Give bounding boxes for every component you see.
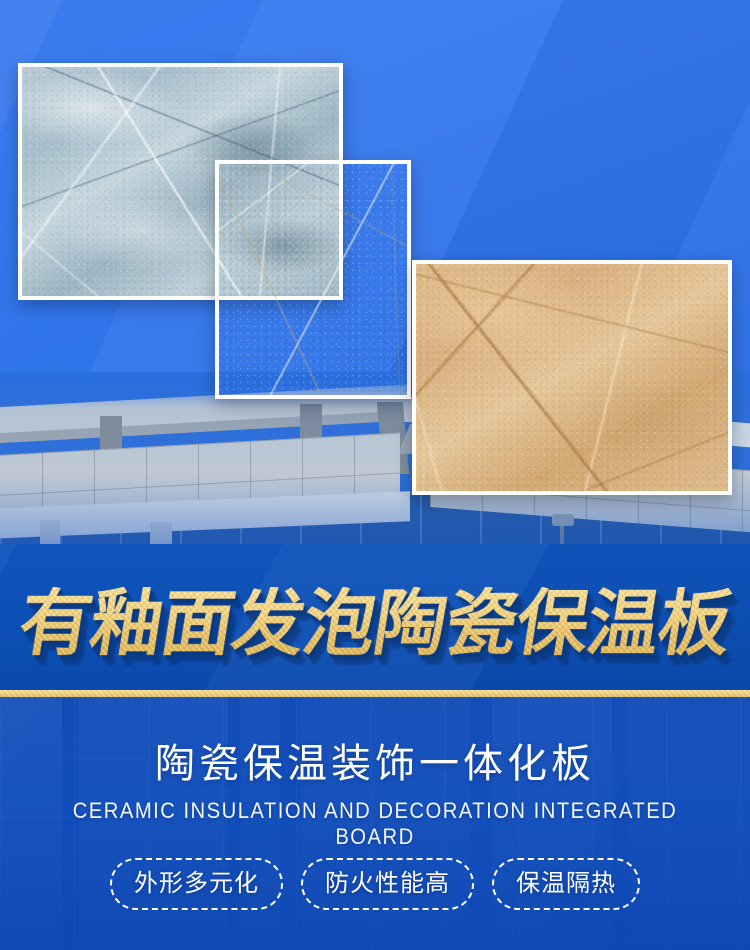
sample-tile-cream-travertine[interactable] — [215, 160, 411, 399]
tile-speckle-cream — [219, 164, 407, 395]
feature-pill-2[interactable]: 防火性能高 — [301, 858, 474, 910]
main-title: 有釉面发泡陶瓷保温板 — [0, 587, 750, 659]
subtitle-english: CERAMIC INSULATION AND DECORATION INTEGR… — [30, 798, 720, 850]
feature-pill-group: 外形多元化 防火性能高 保温隔热 — [0, 858, 750, 910]
feature-pill-3[interactable]: 保温隔热 — [492, 858, 640, 910]
subtitle-chinese: 陶瓷保温装饰一体化板 — [0, 742, 750, 786]
feature-pill-1[interactable]: 外形多元化 — [110, 858, 283, 910]
product-banner: 有釉面发泡陶瓷保温板 陶瓷保温装饰一体化板 CERAMIC INSULATION… — [0, 0, 750, 950]
sample-tile-tan-marble[interactable] — [412, 260, 732, 495]
tile-speckle-tan — [416, 264, 728, 491]
